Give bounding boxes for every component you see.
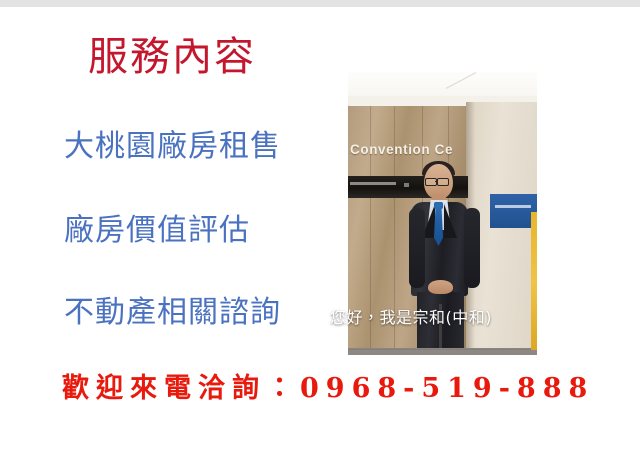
clasped-hands	[428, 280, 453, 294]
service-item-2: 廠房價值評估	[64, 213, 250, 249]
dark-band-highlight	[350, 182, 396, 185]
photo-caption: 您好，我是宗和(中和)	[330, 308, 492, 328]
photo-bottom-strip	[348, 350, 537, 355]
top-band	[0, 0, 640, 7]
blue-sign-plate-text	[495, 205, 531, 208]
service-item-1: 大桃園廠房租售	[64, 129, 281, 165]
arm-left	[409, 208, 425, 288]
glasses-bridge	[435, 181, 438, 182]
necktie	[434, 204, 443, 246]
gold-accent-strip	[531, 212, 537, 355]
blue-sign-plate	[490, 194, 537, 228]
arm-right	[464, 208, 480, 288]
page-title: 服務內容	[88, 33, 256, 81]
glasses-right-lens	[437, 178, 449, 186]
slide-canvas: 服務內容 大桃園廠房租售 廠房價值評估 不動產相關諮詢 歡迎來電洽詢：0968-…	[0, 0, 640, 451]
service-item-3: 不動產相關諮詢	[64, 295, 281, 331]
contact-phone-line: 歡迎來電洽詢：0968-519-888	[62, 372, 594, 406]
convention-center-sign: Convention Ce	[350, 142, 453, 157]
